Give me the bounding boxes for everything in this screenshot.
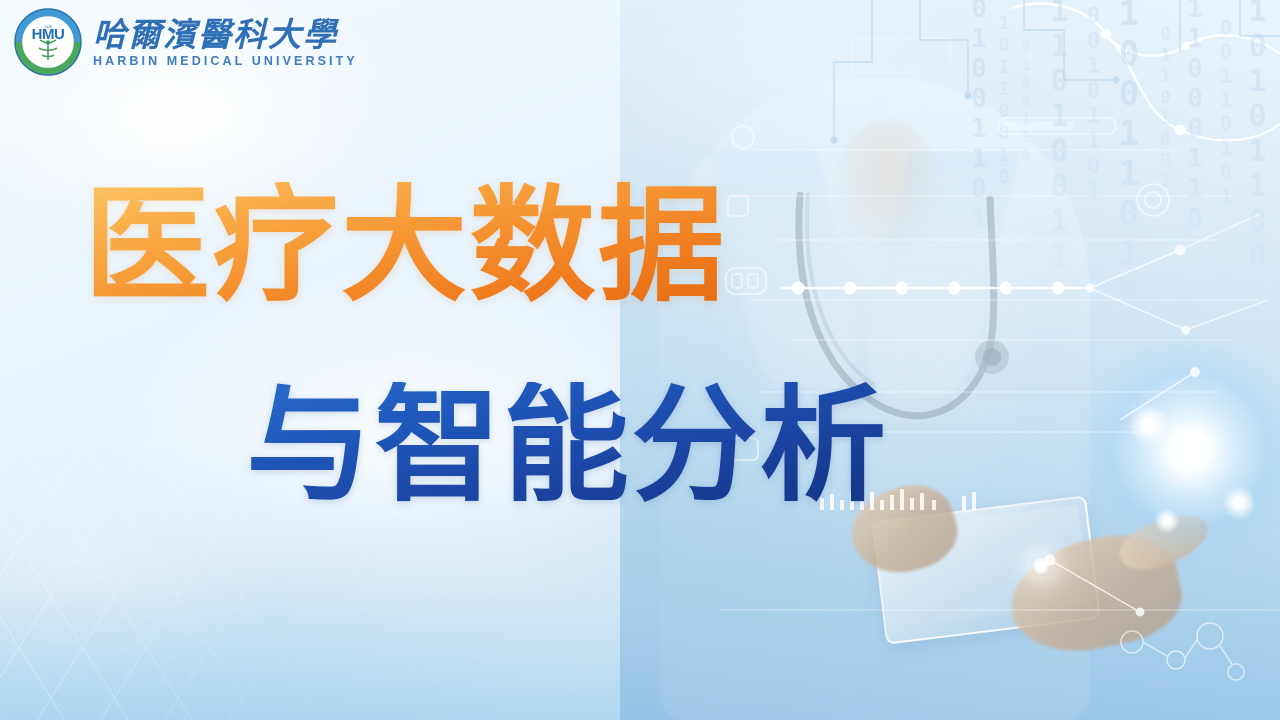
slide-title-block: 医疗大数据 与智能分析: [0, 0, 1280, 720]
title-slide: 01001101 10110010 0100110 11010011 00101…: [0, 0, 1280, 720]
slide-title-line-2: 与智能分析: [246, 382, 889, 508]
slide-title-line-1: 医疗大数据: [84, 182, 727, 308]
